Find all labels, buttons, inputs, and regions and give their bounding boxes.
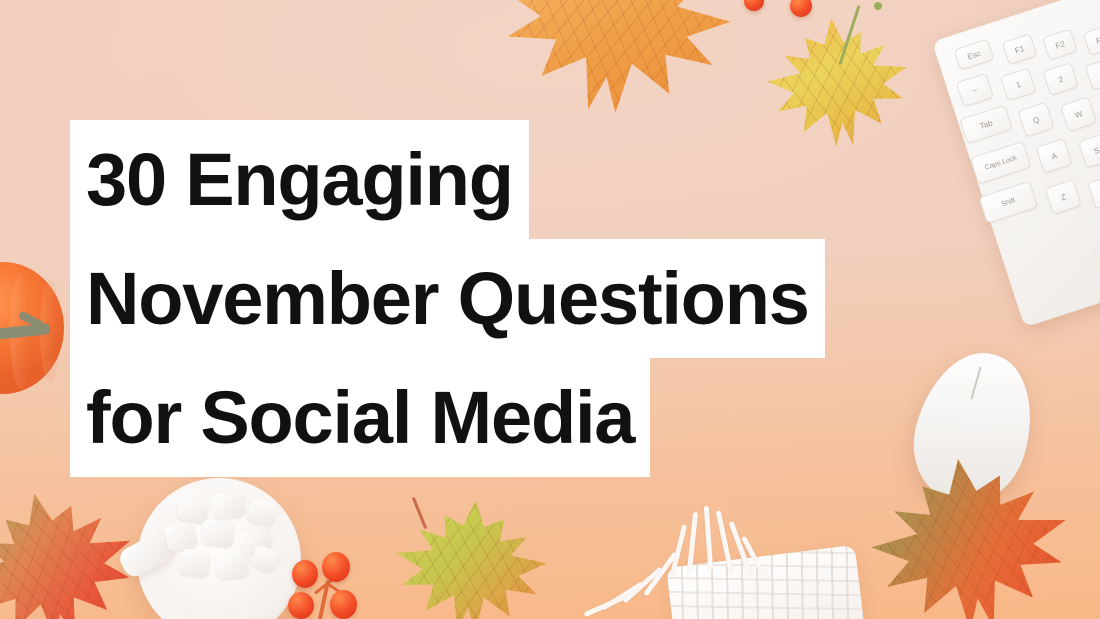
title-line-3: for Social Media xyxy=(70,358,650,477)
keyboard-key-2[interactable]: 2 xyxy=(1042,62,1079,96)
title-block: 30 Engaging November Questions for Socia… xyxy=(70,120,825,477)
maple-leaf-orange-top-left xyxy=(488,0,742,127)
keyboard-key-f3[interactable]: F3 xyxy=(1083,24,1100,56)
berry-bottom-c xyxy=(288,592,314,619)
marshmallow xyxy=(201,518,236,547)
keyboard-key-z[interactable]: Z xyxy=(1045,179,1082,215)
keyboard-key-a[interactable]: A xyxy=(1036,138,1073,174)
title-line-2: November Questions xyxy=(70,239,825,358)
scarf-fringe xyxy=(583,595,625,617)
keyboard-key-q[interactable]: Q xyxy=(1017,102,1054,138)
keyboard-key-1[interactable]: 1 xyxy=(1000,67,1037,101)
keyboard-key-tab[interactable]: Tab xyxy=(959,105,1013,145)
title-line-1: 30 Engaging xyxy=(70,120,529,239)
scarf-fringe xyxy=(704,506,713,570)
leaf-stem-bottom-center xyxy=(412,497,428,530)
marshmallow xyxy=(215,550,250,579)
keyboard-key-w[interactable]: W xyxy=(1060,96,1097,132)
marshmallow xyxy=(210,490,245,520)
keyboard-key-f1[interactable]: F1 xyxy=(1002,33,1038,65)
berry-top-b xyxy=(790,0,812,17)
keyboard-key-x[interactable]: X xyxy=(1087,174,1100,210)
knitted-scarf xyxy=(666,545,868,619)
berry-top-a xyxy=(744,0,764,11)
keyboard-key-3[interactable]: 3 xyxy=(1085,57,1100,91)
keyboard-key-esc[interactable]: Esc xyxy=(953,39,994,71)
berry-bottom-d xyxy=(330,590,357,619)
scarf-fringe xyxy=(687,512,698,572)
keyboard-key-f2[interactable]: F2 xyxy=(1042,29,1078,61)
keyboard-key-capslock[interactable]: Caps Lock xyxy=(970,141,1032,185)
berry-bottom-a xyxy=(292,560,318,588)
leaf-stem-tip-icon xyxy=(874,2,882,10)
keyboard-key-shift[interactable]: Shift xyxy=(978,181,1038,224)
keyboard-key-tilde[interactable]: ~ xyxy=(956,73,994,108)
marshmallow xyxy=(178,548,212,579)
keyboard-key-s[interactable]: S xyxy=(1078,133,1100,169)
poster-canvas: Esc F1 F2 F3 F4 F5 ~ 1 2 3 4 5 Tab Q W E… xyxy=(0,0,1100,619)
berry-bottom-b xyxy=(322,552,350,582)
wireless-keyboard[interactable]: Esc F1 F2 F3 F4 F5 ~ 1 2 3 4 5 Tab Q W E… xyxy=(932,0,1100,327)
maple-leaf-green-bottom-center xyxy=(392,495,551,619)
